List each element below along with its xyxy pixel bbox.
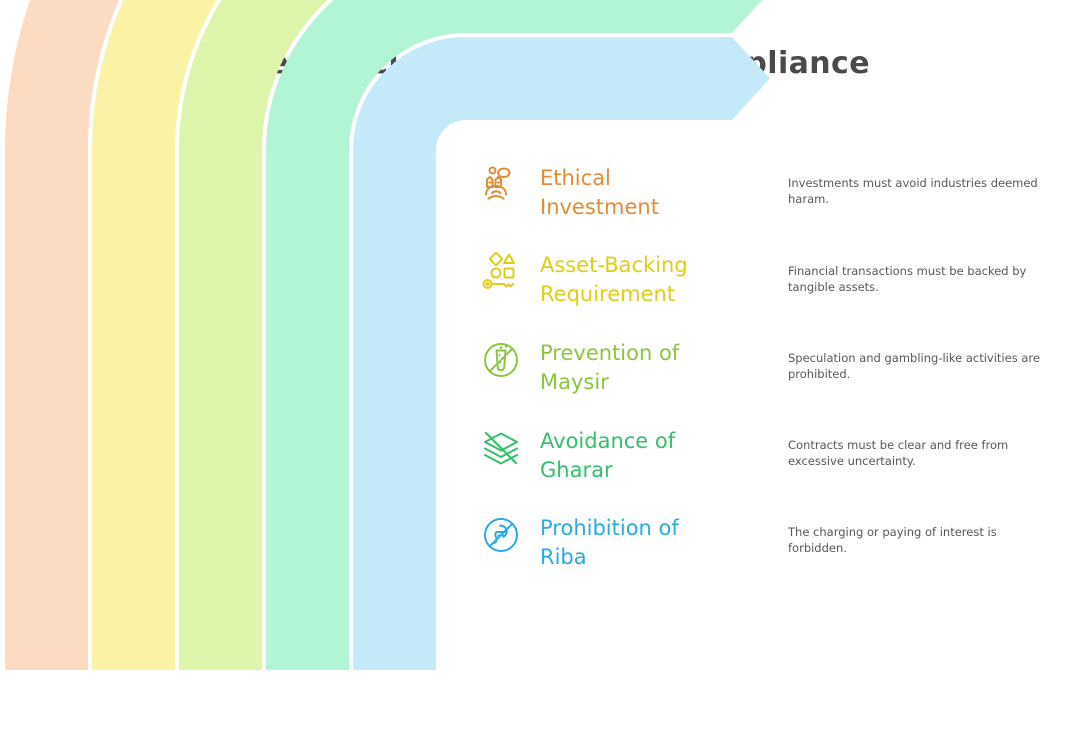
row-label-line1: Ethical <box>540 164 740 193</box>
row-label-ethical-investment: Ethical Investment <box>540 164 740 222</box>
row-label-line2: Investment <box>540 193 740 222</box>
row-label-line1: Prevention of <box>540 339 740 368</box>
row-label-line2: Maysir <box>540 368 740 397</box>
shapes-and-key-icon <box>479 250 523 294</box>
row-description-avoidance-gharar: Contracts must be clear and free from ex… <box>788 437 1048 469</box>
row-label-line2: Gharar <box>540 456 740 485</box>
row-label-line1: Asset-Backing <box>540 251 740 280</box>
row-label-line2: Riba <box>540 543 740 572</box>
row-label-prevention-maysir: Prevention of Maysir <box>540 339 740 397</box>
infographic-canvas: Core Principles of Shariah Compliance Et… <box>0 0 1080 730</box>
row-description-prohibition-riba: The charging or paying of interest is fo… <box>788 524 1048 556</box>
row-description-prevention-maysir: Speculation and gambling-like activities… <box>788 350 1048 382</box>
row-label-avoidance-gharar: Avoidance of Gharar <box>540 427 740 485</box>
no-stacked-documents-icon <box>479 426 523 470</box>
row-label-line1: Prohibition of <box>540 514 740 543</box>
no-gambling-icon <box>479 338 523 382</box>
row-label-line2: Requirement <box>540 280 740 309</box>
no-interest-icon <box>479 513 523 557</box>
row-description-ethical-investment: Investments must avoid industries deemed… <box>788 175 1048 207</box>
row-label-prohibition-riba: Prohibition of Riba <box>540 514 740 572</box>
row-label-line1: Avoidance of <box>540 427 740 456</box>
row-label-asset-backing: Asset-Backing Requirement <box>540 251 740 309</box>
people-holding-hands-icon <box>479 163 523 207</box>
row-description-asset-backing: Financial transactions must be backed by… <box>788 263 1048 295</box>
